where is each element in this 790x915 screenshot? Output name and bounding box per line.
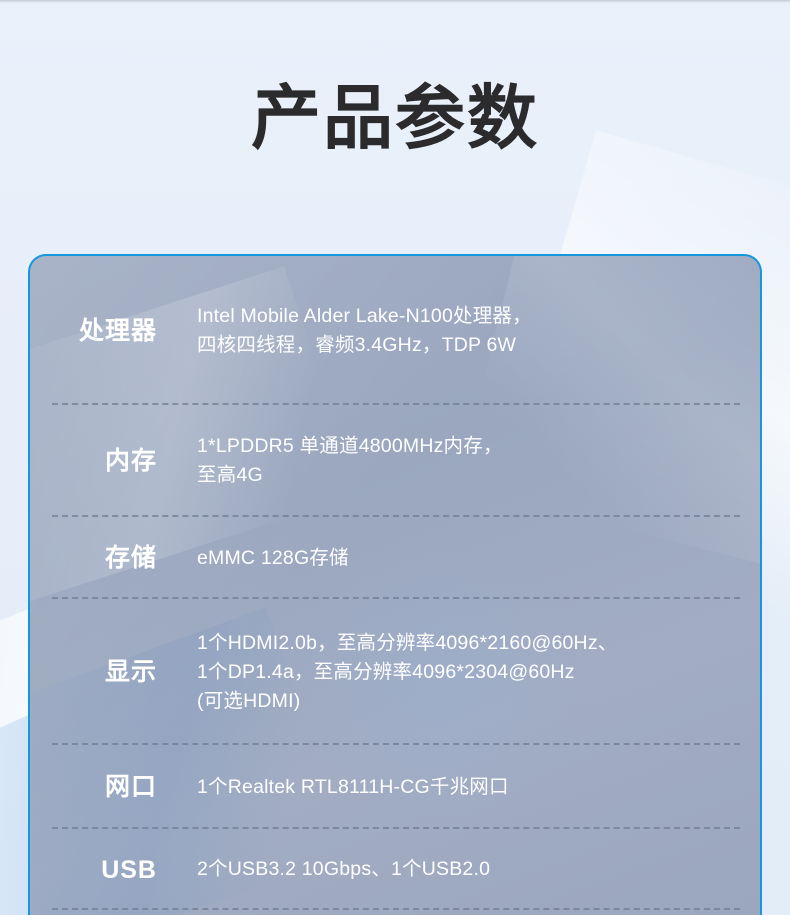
spec-row-overflow [30, 910, 760, 915]
spec-row-processor: 处理器 Intel Mobile Alder Lake-N100处理器， 四核四… [30, 256, 760, 405]
spec-value-line: 1个Realtek RTL8111H-CG千兆网口 [197, 773, 734, 802]
spec-value-line: (可选HDMI) [197, 687, 734, 716]
spec-label-usb: USB [30, 855, 175, 885]
spec-value-line: 四核四线程，睿频3.4GHz，TDP 6W [197, 331, 734, 360]
spec-value-storage: eMMC 128G存储 [175, 544, 734, 573]
spec-row-usb: USB 2个USB3.2 10Gbps、1个USB2.0 [30, 829, 760, 910]
spec-row-storage: 存储 eMMC 128G存储 [30, 517, 760, 599]
spec-label-display: 显示 [30, 657, 175, 687]
spec-table: 处理器 Intel Mobile Alder Lake-N100处理器， 四核四… [30, 256, 760, 915]
spec-value-line: 1个HDMI2.0b，至高分辨率4096*2160@60Hz、 [197, 629, 734, 658]
spec-value-line: 2个USB3.2 10Gbps、1个USB2.0 [197, 855, 734, 884]
spec-row-display: 显示 1个HDMI2.0b，至高分辨率4096*2160@60Hz、 1个DP1… [30, 599, 760, 745]
spec-value-line: eMMC 128G存储 [197, 544, 734, 573]
spec-value-memory: 1*LPDDR5 单通道4800MHz内存， 至高4G [175, 432, 734, 490]
spec-value-line: Intel Mobile Alder Lake-N100处理器， [197, 302, 734, 331]
spec-panel: 处理器 Intel Mobile Alder Lake-N100处理器， 四核四… [28, 254, 762, 915]
spec-label-memory: 内存 [30, 446, 175, 476]
spec-row-memory: 内存 1*LPDDR5 单通道4800MHz内存， 至高4G [30, 405, 760, 517]
product-spec-page: 产品参数 处理器 Intel Mobile Alder Lake-N100处理器… [0, 0, 790, 915]
spec-value-lan: 1个Realtek RTL8111H-CG千兆网口 [175, 773, 734, 802]
spec-label-lan: 网口 [30, 772, 175, 802]
spec-value-line: 至高4G [197, 461, 734, 490]
spec-value-usb: 2个USB3.2 10Gbps、1个USB2.0 [175, 855, 734, 884]
page-title: 产品参数 [0, 78, 790, 158]
spec-label-processor: 处理器 [30, 316, 175, 346]
top-edge-strip [0, 0, 790, 3]
spec-label-storage: 存储 [30, 543, 175, 573]
spec-value-line: 1个DP1.4a，至高分辨率4096*2304@60Hz [197, 658, 734, 687]
spec-row-lan: 网口 1个Realtek RTL8111H-CG千兆网口 [30, 745, 760, 829]
spec-value-processor: Intel Mobile Alder Lake-N100处理器， 四核四线程，睿… [175, 302, 734, 360]
spec-value-line: 1*LPDDR5 单通道4800MHz内存， [197, 432, 734, 461]
spec-value-display: 1个HDMI2.0b，至高分辨率4096*2160@60Hz、 1个DP1.4a… [175, 629, 734, 716]
